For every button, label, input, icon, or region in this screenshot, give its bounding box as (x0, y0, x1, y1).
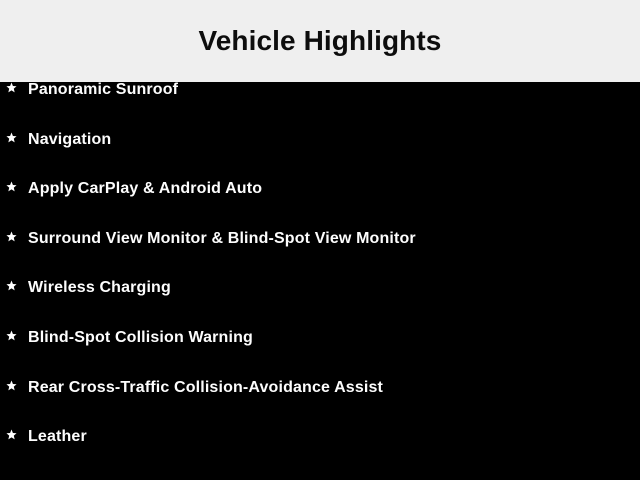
star-icon (0, 132, 22, 143)
star-icon (0, 330, 22, 341)
page-title: Vehicle Highlights (199, 27, 442, 55)
star-icon (0, 82, 22, 93)
list-item-label: Surround View Monitor & Blind-Spot View … (22, 231, 416, 247)
list-item: Rear Cross-Traffic Collision-Avoidance A… (0, 380, 640, 430)
list-item: Panoramic Sunroof (0, 82, 640, 132)
star-icon (0, 429, 22, 440)
highlights-list: Panoramic Sunroof Navigation Apply CarPl… (0, 82, 640, 479)
list-item: Navigation (0, 132, 640, 182)
list-item-label: Rear Cross-Traffic Collision-Avoidance A… (22, 380, 383, 396)
list-item-label: Blind-Spot Collision Warning (22, 330, 253, 346)
star-icon (0, 280, 22, 291)
list-item-label: Wireless Charging (22, 280, 171, 296)
list-item-label: Navigation (22, 132, 111, 148)
highlights-body: Panoramic Sunroof Navigation Apply CarPl… (0, 82, 640, 480)
list-item-label: Leather (22, 429, 87, 445)
star-icon (0, 231, 22, 242)
list-item: Surround View Monitor & Blind-Spot View … (0, 231, 640, 281)
list-item: Blind-Spot Collision Warning (0, 330, 640, 380)
panel-header: Vehicle Highlights (0, 0, 640, 82)
star-icon (0, 181, 22, 192)
list-item: Wireless Charging (0, 280, 640, 330)
list-item-label: Apply CarPlay & Android Auto (22, 181, 262, 197)
list-item: Leather (0, 429, 640, 479)
vehicle-highlights-panel: Vehicle Highlights Panoramic Sunroof Nav… (0, 0, 640, 480)
list-item: Apply CarPlay & Android Auto (0, 181, 640, 231)
star-icon (0, 380, 22, 391)
list-item-label: Panoramic Sunroof (22, 82, 178, 98)
